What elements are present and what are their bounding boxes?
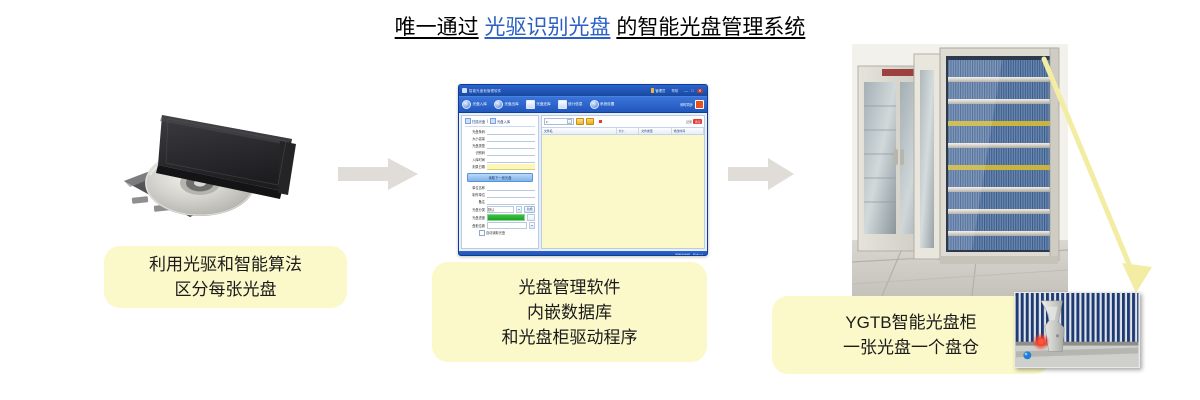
record-indicator-icon bbox=[599, 120, 602, 123]
optical-drive-photo bbox=[120, 105, 320, 225]
sync-icon[interactable] bbox=[695, 100, 704, 109]
caption-line: 区分每张光盘 bbox=[175, 277, 277, 302]
maker-unit-input[interactable] bbox=[487, 192, 535, 198]
app-icon bbox=[462, 88, 467, 93]
field-label: 识别码 bbox=[465, 150, 485, 155]
folder-icon[interactable] bbox=[586, 118, 594, 125]
add-category-button[interactable]: 新增 bbox=[524, 206, 535, 213]
field-row-barcode[interactable]: 光盘条码 bbox=[465, 129, 535, 135]
toolbar-label-sync: 即时同步 bbox=[680, 102, 693, 107]
caption-software: 光盘管理软件 内嵌数据库 和光盘柜驱动程序 bbox=[432, 262, 707, 362]
toolbar-item-settings[interactable]: 系统设置 bbox=[590, 100, 615, 109]
scan-icon bbox=[465, 118, 471, 124]
folder-up-icon[interactable] bbox=[576, 118, 584, 125]
disc-slot-detail-photo bbox=[1014, 292, 1140, 368]
field-label: 光盘进度 bbox=[465, 215, 485, 220]
caption-line: 内嵌数据库 bbox=[527, 300, 612, 325]
chevron-down-icon[interactable] bbox=[567, 119, 573, 125]
login-indicator[interactable]: 管理员 bbox=[651, 88, 666, 93]
title-accent: 光驱识别光盘 bbox=[485, 16, 611, 39]
field-row-intake-time[interactable]: 入库时间 bbox=[465, 157, 535, 163]
status-bar: 智能光盘柜 - 版本2.0 bbox=[459, 251, 707, 256]
field-row-cabinet-position[interactable]: 盘柜位置 bbox=[465, 222, 535, 229]
disc-type-input[interactable] bbox=[487, 143, 535, 149]
drive-path-value: F: bbox=[546, 120, 549, 124]
field-label: 光盘类型 bbox=[465, 143, 485, 148]
toolbar-label: 光盘出库 bbox=[504, 102, 518, 107]
field-row-disc-type[interactable]: 光盘类型 bbox=[465, 143, 535, 149]
tab-label: 光盘入库 bbox=[497, 119, 510, 124]
toolbar-label: 统计信息 bbox=[568, 102, 582, 107]
field-label: 大小容量 bbox=[465, 136, 485, 141]
auto-read-checkbox[interactable] bbox=[479, 230, 485, 236]
file-list-header: 文件名 大小 文件类型 修改时间 bbox=[542, 127, 704, 135]
intake-time-input[interactable] bbox=[487, 157, 535, 163]
field-label: 光盘条码 bbox=[465, 129, 485, 134]
toolbar-label: 系统设置 bbox=[600, 102, 614, 107]
window-controls[interactable]: — □ ✕ bbox=[684, 89, 703, 93]
field-row-burn-date[interactable]: 刻录日期 bbox=[465, 164, 535, 170]
caption-line: YGTB智能光盘柜 bbox=[845, 310, 976, 335]
toolbar-item-stats[interactable]: 统计信息 bbox=[558, 100, 583, 109]
caption-drive: 利用光驱和智能算法 区分每张光盘 bbox=[104, 246, 347, 308]
field-row-capacity[interactable]: 大小容量 bbox=[465, 136, 535, 142]
tab-divider: | bbox=[487, 119, 488, 123]
disc-cabinet-photo bbox=[852, 44, 1068, 296]
caption-line: 一张光盘一个盘仓 bbox=[843, 335, 979, 360]
main-toolbar[interactable]: 光盘入库 光盘出库 光盘还库 统计信息 系统设置 即时同步 bbox=[459, 96, 707, 113]
panel-tabs[interactable]: 扫描光盘 | 光盘入库 bbox=[465, 118, 535, 127]
field-label: 光盘分类 bbox=[465, 207, 485, 212]
clear-button[interactable]: 清空 bbox=[693, 119, 702, 124]
disc-in-small-icon bbox=[490, 118, 496, 124]
window-body: 扫描光盘 | 光盘入库 光盘条码 大小容量 光盘类 bbox=[459, 113, 707, 251]
caption-line: 和光盘柜驱动程序 bbox=[502, 325, 638, 350]
column-filename: 文件名 bbox=[542, 128, 617, 134]
field-row-identifier[interactable]: 识别码 bbox=[465, 150, 535, 156]
file-browser-panel[interactable]: F: 记录 清空 文件名 大小 文件类型 修改时间 bbox=[541, 115, 705, 249]
capacity-input[interactable] bbox=[487, 136, 535, 142]
field-row-unit-name[interactable]: 单位名称 bbox=[465, 185, 535, 191]
toolbar-label: 光盘还库 bbox=[536, 102, 550, 107]
column-filetype: 文件类型 bbox=[639, 128, 671, 134]
disc-out-icon bbox=[494, 100, 503, 109]
stats-icon bbox=[558, 100, 567, 109]
title-prefix: 唯一通过 bbox=[395, 16, 479, 39]
identifier-input[interactable] bbox=[487, 150, 535, 156]
window-titlebar: 智能光盘柜管理软件 管理员 帮助 — □ ✕ bbox=[459, 85, 707, 96]
file-browser-actions[interactable]: 记录 清空 bbox=[686, 119, 702, 124]
field-label: 盘柜位置 bbox=[465, 223, 485, 228]
minimize-button[interactable]: — bbox=[684, 89, 688, 93]
toolbar-right-group[interactable]: 即时同步 bbox=[680, 100, 704, 109]
close-button[interactable]: ✕ bbox=[697, 89, 703, 93]
disc-return-icon bbox=[526, 100, 535, 109]
help-link[interactable]: 帮助 bbox=[671, 88, 678, 93]
window-title: 智能光盘柜管理软件 bbox=[469, 88, 501, 93]
unit-name-input[interactable] bbox=[487, 185, 535, 191]
tab-label: 扫描光盘 bbox=[472, 119, 485, 124]
auto-read-checkbox-row[interactable]: 自动读取光盘 bbox=[465, 230, 535, 236]
field-row-category[interactable]: 光盘分类 默认 新增 bbox=[465, 206, 535, 213]
status-text: 智能光盘柜 - 版本2.0 bbox=[675, 253, 703, 256]
slide-canvas: 唯一通过 光驱识别光盘 的智能光盘管理系统 bbox=[0, 0, 1200, 400]
read-next-disc-button[interactable]: 读取下一张光盘 bbox=[467, 173, 533, 182]
category-select-value[interactable]: 默认 bbox=[487, 206, 514, 213]
page-title: 唯一通过 光驱识别光盘 的智能光盘管理系统 bbox=[0, 14, 1200, 42]
field-label: 刻录日期 bbox=[465, 164, 485, 169]
chevron-down-icon[interactable] bbox=[529, 222, 535, 229]
field-row-remark[interactable]: 备注 bbox=[465, 199, 535, 205]
disc-in-icon bbox=[462, 100, 471, 109]
cabinet-position-select[interactable] bbox=[487, 222, 527, 229]
field-row-maker-unit[interactable]: 制作单位 bbox=[465, 192, 535, 198]
arrow-drive-to-software bbox=[338, 158, 418, 190]
field-label: 单位名称 bbox=[465, 185, 485, 190]
toolbar-item-disc-return[interactable]: 光盘还库 bbox=[526, 100, 551, 109]
left-form-panel[interactable]: 扫描光盘 | 光盘入库 光盘条码 大小容量 光盘类 bbox=[461, 115, 539, 249]
drive-path-select[interactable]: F: bbox=[544, 118, 574, 125]
arrow-software-to-cabinet bbox=[728, 158, 794, 190]
caption-line: 光盘管理软件 bbox=[519, 275, 621, 300]
file-list-body[interactable] bbox=[542, 135, 704, 249]
title-suffix: 的智能光盘管理系统 bbox=[616, 16, 805, 39]
field-row-progress: 光盘进度 bbox=[465, 214, 535, 221]
field-label: 入库时间 bbox=[465, 157, 485, 162]
caption-cabinet: YGTB智能光盘柜 一张光盘一个盘仓 bbox=[772, 296, 1050, 374]
callout-arrow bbox=[1040, 55, 1190, 305]
maximize-button[interactable]: □ bbox=[691, 89, 693, 93]
toolbar-item-disc-in[interactable]: 光盘入库 bbox=[462, 100, 487, 109]
progress-count-stepper[interactable] bbox=[527, 214, 535, 221]
disc-management-software-window[interactable]: 智能光盘柜管理软件 管理员 帮助 — □ ✕ 光盘入库 光盘出库 bbox=[458, 84, 708, 256]
user-badge-icon bbox=[651, 88, 654, 93]
file-browser-toolbar[interactable]: F: 记录 清空 bbox=[542, 116, 704, 127]
toolbar-item-disc-out[interactable]: 光盘出库 bbox=[494, 100, 519, 109]
chevron-down-icon[interactable] bbox=[516, 206, 522, 213]
burn-date-input[interactable] bbox=[487, 164, 535, 170]
barcode-input[interactable] bbox=[487, 129, 535, 135]
caption-line: 利用光驱和智能算法 bbox=[149, 252, 302, 277]
field-label: 制作单位 bbox=[465, 192, 485, 197]
tab-scan-disc[interactable]: 扫描光盘 bbox=[465, 118, 485, 124]
toolbar-label: 光盘入库 bbox=[473, 102, 487, 107]
login-label: 管理员 bbox=[655, 88, 665, 93]
record-label: 记录 bbox=[686, 120, 692, 124]
tab-disc-in[interactable]: 光盘入库 bbox=[490, 118, 510, 124]
column-modified: 修改时间 bbox=[672, 128, 704, 134]
field-label: 备注 bbox=[465, 199, 485, 204]
auto-read-label: 自动读取光盘 bbox=[486, 230, 505, 235]
gear-icon bbox=[590, 100, 599, 109]
progress-bar bbox=[487, 214, 525, 221]
column-size: 大小 bbox=[617, 128, 640, 134]
remark-input[interactable] bbox=[487, 199, 535, 205]
